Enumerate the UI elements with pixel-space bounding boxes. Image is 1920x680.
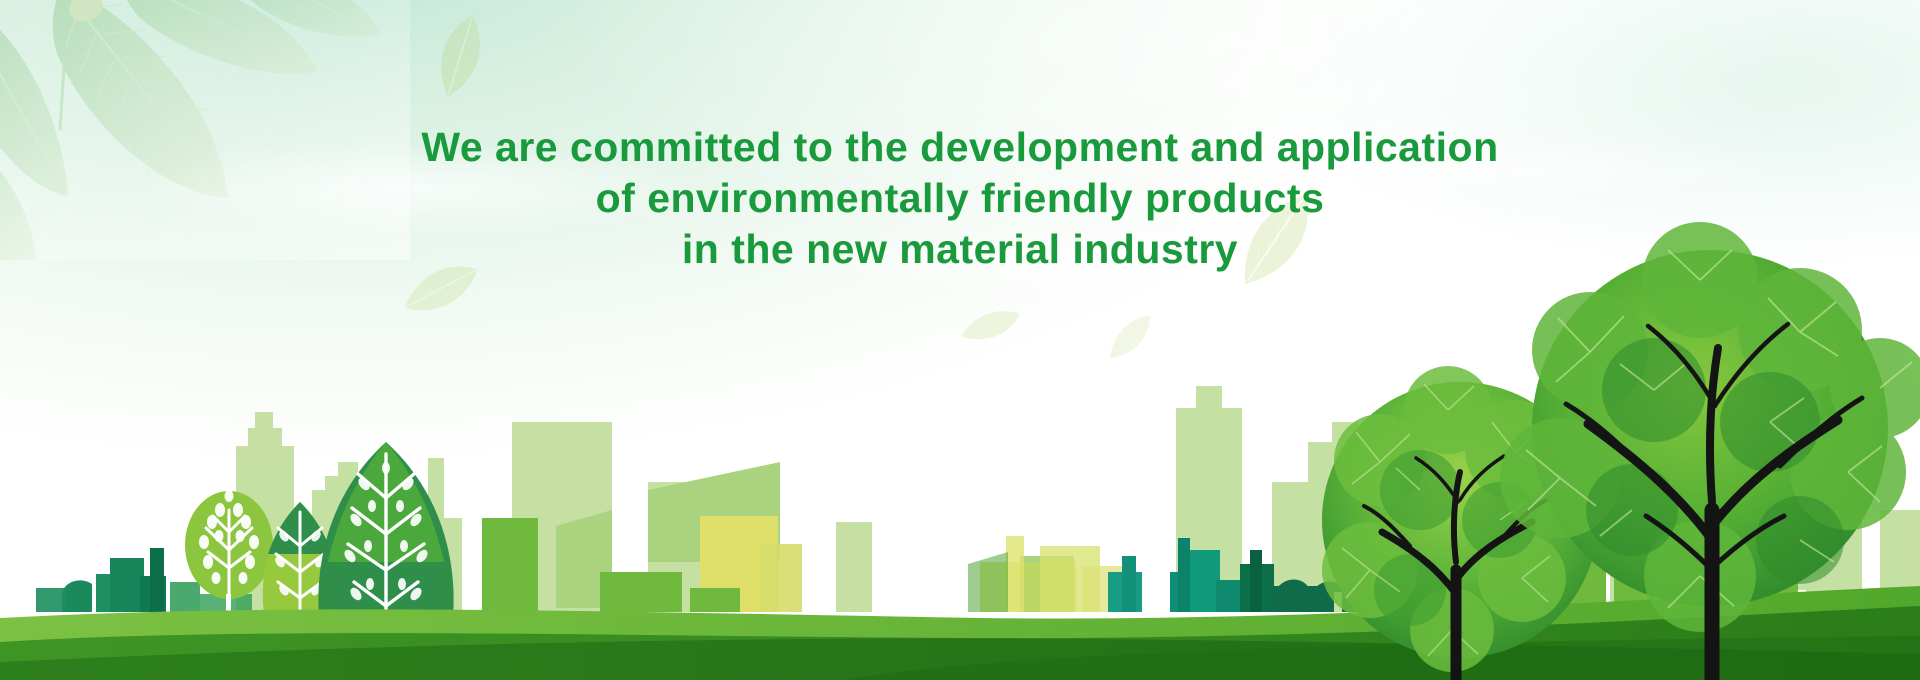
headline-line-3: in the new material industry — [0, 224, 1920, 275]
buildings-yellow — [700, 516, 1122, 612]
headline-line-1: We are committed to the development and … — [0, 122, 1920, 173]
headline-line-2: of environmentally friendly products — [0, 173, 1920, 224]
page-title: We are committed to the development and … — [0, 122, 1920, 275]
eco-banner: We are committed to the development and … — [0, 0, 1920, 680]
foreground-trees — [1260, 210, 1920, 680]
